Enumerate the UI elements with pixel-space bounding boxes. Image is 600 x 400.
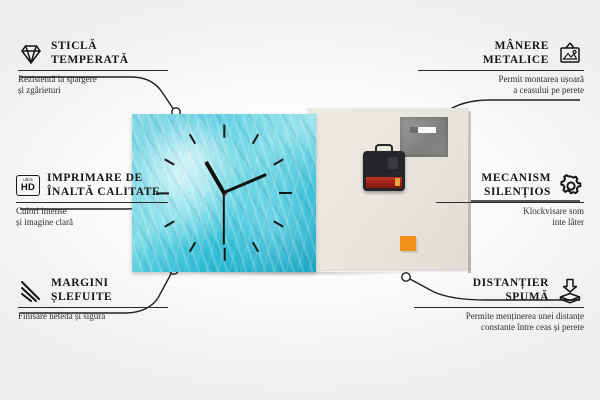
callout-sub-line2: constante între ceas și perete bbox=[414, 322, 584, 333]
diamond-icon bbox=[18, 42, 44, 66]
callout-rule bbox=[414, 307, 584, 308]
clock-tick bbox=[273, 158, 284, 165]
callout-sub-line2: a ceasului pe perete bbox=[418, 85, 584, 96]
callout-sub-line1: Permite menținerea unei distanțe bbox=[414, 311, 584, 322]
callout-title-line1: DISTANȚIER bbox=[473, 277, 549, 291]
callout-header: DISTANȚIER SPUMĂ bbox=[414, 277, 584, 304]
callout-sub-line1: Rezistentă la spargere bbox=[18, 74, 168, 85]
callout-title-line2: ȘLEFUITE bbox=[51, 291, 112, 305]
callout-title-line2: SPUMĂ bbox=[473, 291, 549, 305]
callout-header: ultra HD IMPRIMARE DE ÎNALTĂ CALITATE bbox=[16, 172, 168, 199]
callout-rule bbox=[18, 307, 168, 308]
callout-header: MECANISM SILENȚIOS bbox=[436, 172, 584, 199]
clock-hour-hand bbox=[204, 161, 225, 194]
callout-title-line2: SILENȚIOS bbox=[481, 186, 551, 200]
callout-sub-line2: și zgârieturi bbox=[18, 85, 168, 96]
callout-title-line1: MARGINI bbox=[51, 277, 112, 291]
callout-high-quality-print: ultra HD IMPRIMARE DE ÎNALTĂ CALITATE Cu… bbox=[16, 172, 168, 228]
clock-tick bbox=[189, 242, 196, 253]
callout-rule bbox=[436, 202, 584, 203]
callout-polished-edges: MARGINI ȘLEFUITE Finisare netedă și sigu… bbox=[18, 277, 168, 322]
clock-tick bbox=[223, 248, 225, 261]
hanger-slot bbox=[410, 127, 436, 133]
callout-rule bbox=[418, 70, 584, 71]
callout-sub-line2: și imagine clară bbox=[16, 217, 168, 228]
callout-title-line2: ÎNALTĂ CALITATE bbox=[47, 186, 160, 200]
callout-title-line1: STICLĂ bbox=[51, 40, 129, 54]
clock-tick bbox=[273, 221, 284, 228]
callout-header: STICLĂ TEMPERATĂ bbox=[18, 40, 168, 67]
infographic-stage: STICLĂ TEMPERATĂ Rezistentă la spargere … bbox=[0, 0, 600, 400]
callout-title-line1: MECANISM bbox=[481, 172, 551, 186]
battery bbox=[366, 177, 402, 188]
clock-tick bbox=[223, 125, 225, 138]
clock-tick bbox=[252, 134, 259, 145]
clock-tick bbox=[279, 192, 292, 194]
clock-tick bbox=[165, 158, 176, 165]
callout-title-line1: MÂNERE bbox=[483, 40, 549, 54]
callout-sub-line1: Klockvisare som bbox=[436, 206, 584, 217]
clock-second-hand bbox=[223, 193, 225, 245]
clock-minute-hand bbox=[223, 173, 267, 194]
foam-spacer bbox=[400, 236, 416, 251]
picture-hanger-icon bbox=[556, 41, 584, 66]
product-image bbox=[132, 108, 468, 275]
callout-title-line2: METALICE bbox=[483, 54, 549, 68]
callout-title-line2: TEMPERATĂ bbox=[51, 54, 129, 68]
metal-hanger-plate bbox=[400, 117, 448, 157]
callout-rule bbox=[16, 202, 168, 203]
callout-tempered-glass: STICLĂ TEMPERATĂ Rezistentă la spargere … bbox=[18, 40, 168, 96]
callout-title-line1: IMPRIMARE DE bbox=[47, 172, 160, 186]
callout-sub-line1: Culori intense bbox=[16, 206, 168, 217]
clock-tick bbox=[189, 134, 196, 145]
ultra-hd-icon: ultra HD bbox=[16, 175, 40, 196]
clock-mechanism bbox=[363, 151, 405, 191]
callout-sub-line1: Permit montarea ușoară bbox=[418, 74, 584, 85]
callout-sub-line1: Finisare netedă și sigură bbox=[18, 311, 168, 322]
mechanism-loop bbox=[375, 144, 393, 153]
press-down-icon bbox=[556, 278, 584, 304]
ultra-hd-big-label: HD bbox=[21, 183, 35, 193]
callout-foam-spacer: DISTANȚIER SPUMĂ Permite menținerea unei… bbox=[414, 277, 584, 333]
clock-tick bbox=[252, 242, 259, 253]
callout-silent-mechanism: MECANISM SILENȚIOS Klockvisare som inte … bbox=[436, 172, 584, 228]
callout-sub-line2: inte låter bbox=[436, 217, 584, 228]
callout-metal-handles: MÂNERE METALICE Permit montarea ușoară a… bbox=[418, 40, 584, 96]
gear-icon bbox=[558, 174, 584, 198]
mechanism-shaft bbox=[388, 157, 398, 169]
callout-rule bbox=[18, 70, 168, 71]
diagonal-lines-icon bbox=[18, 279, 44, 303]
callout-header: MARGINI ȘLEFUITE bbox=[18, 277, 168, 304]
callout-header: MÂNERE METALICE bbox=[418, 40, 584, 67]
